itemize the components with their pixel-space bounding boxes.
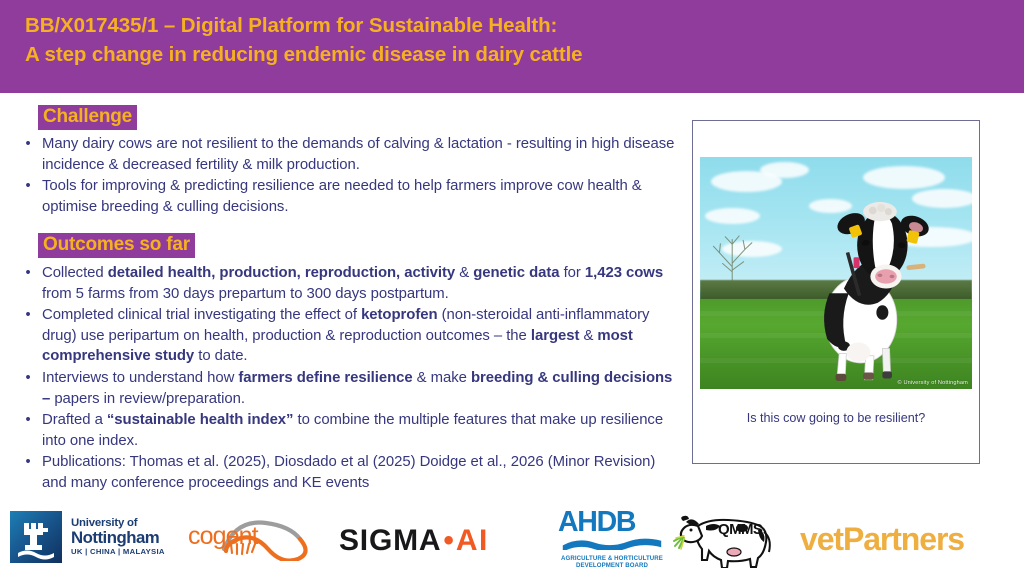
challenge-bullet-list: • Many dairy cows are not resilient to t… <box>18 134 678 218</box>
challenge-heading-wrap: Challenge <box>38 105 137 130</box>
ahdb-subtitle-line1: AGRICULTURE & HORTICULTURE <box>558 555 666 562</box>
list-item: • Collected detailed health, production,… <box>18 263 678 304</box>
logo-ahdb: AHDB AGRICULTURE & HORTICULTURE DEVELOPM… <box>558 508 666 569</box>
photo-caption: Is this cow going to be resilient? <box>693 411 979 425</box>
bullet-marker-icon: • <box>18 452 42 473</box>
wave-icon <box>558 537 666 550</box>
page-title: BB/X017435/1 – Digital Platform for Sust… <box>25 11 925 69</box>
holstein-cow-illustration <box>787 178 939 382</box>
list-item: • Tools for improving & predicting resil… <box>18 176 678 217</box>
bare-tree-icon <box>705 227 759 287</box>
list-item-text: Collected detailed health, production, r… <box>42 263 678 304</box>
logo-sigma-ai: SIGMA • AI <box>339 524 489 558</box>
bullet-marker-icon: • <box>18 368 42 389</box>
sigma-ai-wordmark: AI <box>456 524 489 558</box>
list-item: • Drafted a “sustainable health index” t… <box>18 410 678 451</box>
list-item-text: Interviews to understand how farmers def… <box>42 368 678 409</box>
list-item: • Completed clinical trial investigating… <box>18 305 678 367</box>
bullet-marker-icon: • <box>18 263 42 284</box>
section-heading-challenge: Challenge <box>38 105 137 130</box>
list-item: • Interviews to understand how farmers d… <box>18 368 678 409</box>
list-item-text: Completed clinical trial investigating t… <box>42 305 678 367</box>
ahdb-wordmark: AHDB <box>558 508 666 537</box>
photo-panel: © University of Nottingham Is this cow g… <box>692 120 980 464</box>
cogent-wordmark: cogent <box>188 522 258 551</box>
photo-watermark: © University of Nottingham <box>897 380 968 386</box>
sigma-dot-separator: • <box>441 524 456 558</box>
list-item-text: Publications: Thomas et al. (2025), Dios… <box>42 452 678 493</box>
outcomes-bullet-list: • Collected detailed health, production,… <box>18 263 678 495</box>
nottingham-line3: UK | CHINA | MALAYSIA <box>71 548 165 556</box>
list-item-text: Drafted a “sustainable health index” to … <box>42 410 678 451</box>
vetpartners-wordmark: vetPartners <box>800 521 964 558</box>
logo-cogent: cogent <box>188 513 328 561</box>
bullet-marker-icon: • <box>18 410 42 431</box>
cow-outline-icon: QMMS <box>672 508 778 568</box>
ahdb-subtitle-line2: DEVELOPMENT BOARD <box>558 562 666 569</box>
list-item: • Many dairy cows are not resilient to t… <box>18 134 678 175</box>
header-band: BB/X017435/1 – Digital Platform for Sust… <box>0 0 1024 93</box>
section-heading-outcomes: Outcomes so far <box>38 233 195 258</box>
cloud-shape <box>760 162 809 178</box>
bullet-marker-icon: • <box>18 134 42 155</box>
list-item: • Publications: Thomas et al. (2025), Di… <box>18 452 678 493</box>
content-column: Challenge • Many dairy cows are not resi… <box>0 93 690 493</box>
bullet-marker-icon: • <box>18 176 42 197</box>
nottingham-wordmark: University of Nottingham UK | CHINA | MA… <box>71 518 165 557</box>
bullet-marker-icon: • <box>18 305 42 326</box>
sigma-wordmark: SIGMA <box>339 524 441 558</box>
list-item-text: Many dairy cows are not resilient to the… <box>42 134 678 175</box>
outcomes-heading-wrap: Outcomes so far <box>38 233 195 258</box>
logo-vetpartners: vetPartners <box>800 521 964 558</box>
nottingham-line2: Nottingham <box>71 529 165 546</box>
slide-canvas: BB/X017435/1 – Digital Platform for Sust… <box>0 0 1024 576</box>
logo-university-of-nottingham: University of Nottingham UK | CHINA | MA… <box>10 511 165 563</box>
list-item-text: Tools for improving & predicting resilie… <box>42 176 678 217</box>
castle-tower-icon <box>10 511 62 563</box>
castle-tower-glyph <box>10 511 62 563</box>
cow-photograph: © University of Nottingham <box>700 157 972 389</box>
qmms-wordmark: QMMS <box>718 521 763 538</box>
logo-qmms: QMMS <box>672 508 778 568</box>
